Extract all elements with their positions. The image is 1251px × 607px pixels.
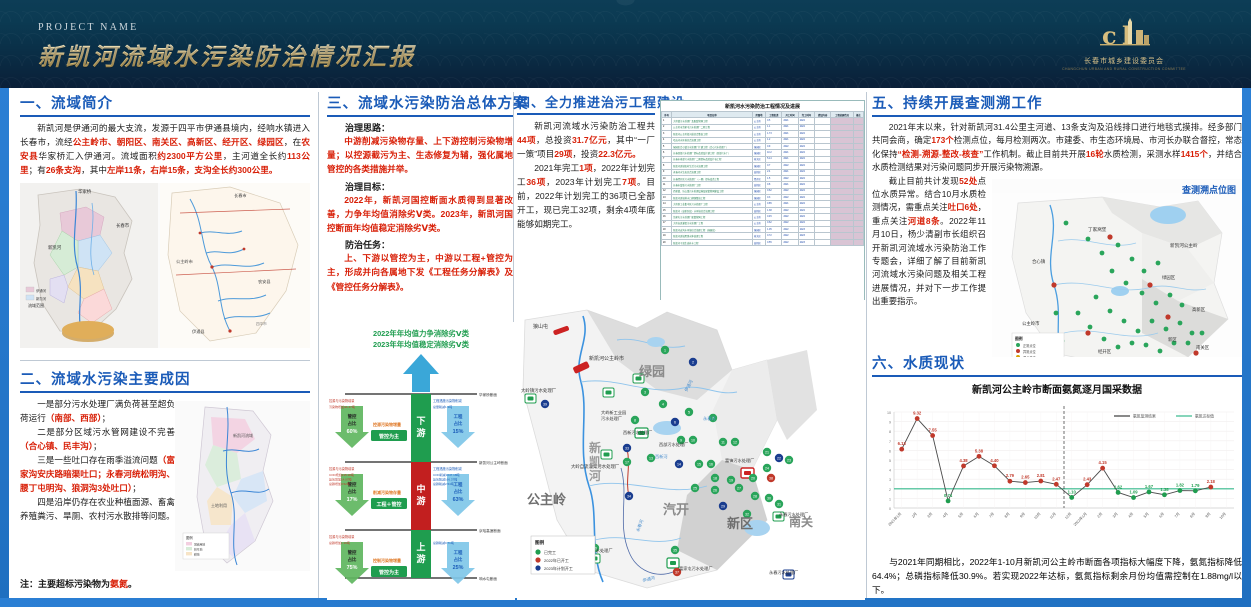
svg-text:公主岭市: 公主岭市: [176, 258, 193, 265]
monitoring-point-marker[interactable]: [1122, 318, 1127, 323]
map-province-panel: 华家桥 长春市 新凯河 流域范围 伊通河 新凯河: [20, 183, 158, 348]
logo-mark-icon: c l: [1059, 14, 1189, 54]
plain-text: ；: [93, 441, 102, 451]
svg-text:河: 河: [588, 468, 601, 483]
svg-text:西新河: 西新河: [655, 453, 668, 460]
chart-background: [872, 398, 1242, 548]
data-label: 2.43: [1083, 477, 1092, 482]
note-highlight: 氨氮: [110, 579, 128, 589]
investigation-map-tag: 查测溯点位图: [1182, 183, 1236, 196]
chart-title: 新凯河公主岭市断面氨氮逐月国采数据: [872, 381, 1242, 396]
map-river-detail-panel: 长春市 公主岭市 农安县 伊通县 四平市: [160, 183, 310, 348]
svg-text:公主岭市: 公主岭市: [1022, 320, 1040, 327]
right-note-title: 工程措施污染物削减: [433, 466, 462, 471]
section-4-rule: [517, 113, 655, 115]
svg-text:丁家窝堡: 丁家窝堡: [1088, 226, 1107, 233]
highlight-text: 7项: [622, 177, 637, 187]
svg-text:富锋污水处理厂: 富锋污水处理厂: [725, 457, 754, 464]
map-marker-label: 11: [721, 441, 725, 445]
section-pollution-causes: 二、流域水污染主要成因 新凯河流域 土地利用 图例 城镇: [20, 368, 310, 590]
data-label: 1.79: [1191, 483, 1200, 488]
monitoring-point-marker[interactable]: [1102, 336, 1107, 341]
section-5-rule: [872, 115, 1242, 117]
action-title: 控制污染物增量: [373, 557, 401, 563]
monitoring-point-marker[interactable]: [1186, 340, 1191, 345]
data-label: 2.47: [1052, 476, 1061, 481]
data-label: 4.40: [990, 458, 999, 463]
map-marker-label: 30: [767, 497, 771, 501]
header-title-block: PROJECT NAME 新凯河流域水污染防治情况汇报: [38, 22, 416, 72]
svg-text:新区: 新区: [1168, 336, 1177, 343]
projects-table: 序号项目名称所属地工程投资开工时间完工时间建设内容工程进展情况备注 1大岭镇污水…: [661, 111, 864, 246]
projects-table-title: 新凯河水污染防治工程情况及进展: [661, 101, 864, 111]
upward-arrow-icon: [403, 354, 439, 392]
right-note-value: COD削减1047.18吨: [433, 472, 460, 477]
section-4-paragraph-1: 新凯河流域水污染防治工程共44项，总投资31.7亿元，其中“一厂一策”项目29项…: [517, 119, 655, 161]
engineering-share-value: 25%: [453, 565, 464, 571]
section-investigation: 五、持续开展查测溯工作 2021年末以来，针对新凯河31.4公里主河道、13条支…: [872, 92, 1242, 361]
svg-text:新凯河: 新凯河: [48, 244, 62, 251]
plain-text: 新凯河流域水污染防治工程共: [534, 121, 655, 131]
projects-table-body: 1大岭镇污水处理厂及配套管网工程公主岭0.5202120222公主岭市范家屯污水…: [662, 118, 864, 246]
data-point[interactable]: [961, 464, 966, 469]
svg-text:长春市: 长春市: [116, 222, 130, 229]
plain-text: 与2021年同期相比，2022年1-10月新凯河公主岭市断面各项指标大幅度下降，…: [872, 557, 1242, 595]
engineering-share-label: 工程: [454, 549, 463, 556]
zone-label: 游: [416, 495, 425, 506]
data-point[interactable]: [1054, 482, 1059, 487]
data-label: 1.62: [1114, 484, 1123, 489]
svg-text:新区: 新区: [727, 516, 753, 531]
monitoring-point-marker[interactable]: [1180, 302, 1185, 307]
y-axis-tick: 4: [889, 469, 891, 473]
map-marker-label: 34: [627, 495, 631, 499]
data-point[interactable]: [1069, 495, 1074, 500]
map-marker-label: 10: [691, 439, 695, 443]
data-point[interactable]: [915, 416, 920, 421]
svg-text:四平市: 四平市: [256, 321, 267, 326]
zone-label: 下: [416, 416, 425, 426]
map-marker-label: 21: [765, 451, 769, 455]
plain-text: ，主河道全长约: [223, 151, 287, 161]
engineering-share-arrow-icon: [441, 406, 475, 448]
divider-3: [866, 92, 867, 598]
engineering-share-value: 63%: [453, 497, 464, 503]
svg-text:新凯河公主岭市: 新凯河公主岭市: [589, 355, 624, 362]
section-water-quality: 六、水质现状 新凯河公主岭市断面氨氮逐月国采数据 0123456789106.1…: [872, 352, 1242, 597]
action-box-label: 管控为主: [379, 569, 399, 576]
highlight-text: 河道8条: [908, 216, 940, 226]
data-point[interactable]: [1208, 485, 1213, 490]
data-label: 2.18: [1207, 479, 1216, 484]
highlight-text: 173个: [931, 135, 954, 145]
action-box-label: 管控为主: [379, 433, 399, 440]
map-marker-label: 26: [713, 489, 717, 493]
highlight-text: 31.7亿元: [572, 135, 607, 145]
section-2-title: 二、流域水污染主要成因: [20, 368, 310, 389]
projects-location-map: 1234567891011121314151617181920212223242…: [517, 300, 865, 600]
map-marker-label: 24: [765, 467, 769, 471]
svg-text:林草地: 林草地: [194, 547, 203, 551]
map-marker-label: 19: [729, 479, 733, 483]
monitoring-point-marker[interactable]: [1116, 242, 1121, 247]
svg-text:流域范围: 流域范围: [28, 302, 44, 308]
abnormal-point-marker[interactable]: [1165, 314, 1170, 319]
monitoring-point-marker[interactable]: [1088, 324, 1093, 329]
goal-line-2: 2023年年均值稳定消除劣Ⅴ类: [373, 340, 470, 349]
action-box-label: 工程＋管控: [376, 501, 401, 508]
legend-label: 氨氮监测结果: [1133, 414, 1156, 419]
logo-subtext: CHANGCHUN URBAN AND RURAL CONSTRUCTION C…: [1059, 67, 1189, 71]
svg-text:永春污水处理厂: 永春污水处理厂: [779, 511, 808, 518]
plain-text: 三是一些吐口存在雨季溢流问题: [37, 455, 158, 465]
highlight-text: 1项: [579, 163, 592, 173]
control-share-value: 75%: [347, 565, 358, 571]
abnormal-point-marker[interactable]: [1051, 282, 1056, 287]
data-point[interactable]: [899, 447, 904, 452]
monitoring-point-marker[interactable]: [1130, 340, 1135, 345]
map-marker-label: 38: [769, 477, 773, 481]
left-note-value: 氨氮增加14.07吨: [329, 476, 352, 481]
monitoring-point-marker[interactable]: [1130, 256, 1135, 261]
plain-text: ；: [132, 483, 141, 493]
monitoring-point-marker[interactable]: [1100, 250, 1105, 255]
highlight-text: 16轮: [1086, 149, 1104, 159]
highlight-text: 吐口6处: [948, 202, 978, 212]
monitoring-point-marker[interactable]: [1168, 292, 1173, 297]
note-suffix: 。: [128, 579, 137, 589]
landuse-map: 新凯河流域 土地利用 图例 城镇用地 林草地 耕地: [175, 401, 310, 571]
svg-text:合心镇: 合心镇: [1032, 258, 1046, 265]
svg-text:伊通河: 伊通河: [36, 288, 47, 293]
map-marker-label: 12: [733, 441, 737, 445]
right-note-title: 工程措施污染物削减: [433, 398, 462, 403]
data-point[interactable]: [946, 498, 951, 503]
monitoring-point-marker[interactable]: [1140, 290, 1145, 295]
control-share-arrow-icon: [335, 406, 369, 448]
left-note-title: 控源与污染物增量: [329, 398, 355, 403]
data-point[interactable]: [1116, 490, 1121, 495]
table-cell: 2022: [782, 239, 798, 245]
map-marker-label: 6: [674, 421, 676, 425]
map-marker-label: 22: [777, 457, 781, 461]
plain-text: 华家桥汇入伊通河。流域面积: [38, 151, 157, 161]
engineering-share-label: 占比: [454, 420, 463, 427]
svg-text:土地利用: 土地利用: [211, 502, 227, 508]
watershed-overview-map: 华家桥 长春市 新凯河 流域范围 伊通河 新凯河: [20, 183, 310, 348]
engineering-share-label: 工程: [454, 481, 463, 488]
data-label: 1.09: [1129, 490, 1138, 495]
data-label: 1.67: [1145, 484, 1154, 489]
project-name-label: PROJECT NAME: [38, 22, 416, 33]
map-marker-label: 16: [709, 463, 713, 467]
svg-text:大岭新工业园: 大岭新工业园: [601, 409, 626, 416]
data-label: 7.55: [929, 428, 938, 433]
section-6-rule: [872, 375, 1242, 377]
page-title: 新凯河流域水污染防治情况汇报: [38, 37, 416, 72]
svg-text:正常点位: 正常点位: [1023, 342, 1037, 347]
data-label: 4.38: [959, 458, 968, 463]
axis-label: 华家桥断面: [479, 392, 497, 397]
monitoring-point-marker[interactable]: [1154, 300, 1159, 305]
svg-text:已完工: 已完工: [544, 549, 556, 555]
data-point[interactable]: [1178, 488, 1183, 493]
left-note-value: COD增加215.18吨: [329, 472, 354, 477]
plain-text: 水质检测，采测水样: [1104, 149, 1181, 159]
map-legend-title: 图例: [535, 539, 545, 546]
note-prefix: 注：主要超标污染物为: [20, 579, 110, 589]
investigation-points-map: 查测溯点位图 丁家窝堡: [992, 179, 1242, 357]
map-marker-label: 29: [721, 505, 725, 509]
map-marker-label: 3: [644, 391, 646, 395]
control-share-label: 占比: [348, 556, 357, 563]
right-note-value: 氨氮削减166.37吨: [433, 476, 457, 481]
monitoring-point-marker[interactable]: [1054, 310, 1059, 315]
data-label: 1.10: [1068, 489, 1077, 494]
data-point[interactable]: [1147, 490, 1152, 495]
engineering-share-label: 占比: [454, 556, 463, 563]
logo-text: 长春市城乡建设委员会: [1059, 56, 1189, 66]
left-note-value: 总磷增加0.52吨: [329, 481, 350, 486]
highlight-text: 44项: [517, 135, 536, 145]
monitoring-point-marker[interactable]: [1086, 236, 1091, 241]
monitoring-point-marker[interactable]: [1094, 294, 1099, 299]
y-axis-tick: 10: [887, 411, 891, 415]
svg-text:2022年已开工: 2022年已开工: [544, 557, 569, 563]
y-axis-tick: 9: [889, 421, 891, 425]
map-marker-label: 14: [677, 463, 681, 467]
data-point[interactable]: [1038, 479, 1043, 484]
map-marker-label: 5: [688, 411, 690, 415]
svg-text:西部污水处理厂: 西部污水处理厂: [659, 441, 688, 448]
right-note-value: 总磷削减0.71吨: [433, 540, 454, 545]
data-point[interactable]: [1085, 482, 1090, 487]
data-point[interactable]: [992, 463, 997, 468]
svg-text:西新污水处理厂: 西新污水处理厂: [623, 429, 652, 436]
action-title: 削减污染物存量: [373, 489, 401, 495]
section-3-title: 三、流域水污染防治总体方案: [327, 92, 513, 113]
plain-text: ，其中: [81, 165, 107, 175]
control-share-label: 占比: [348, 420, 357, 427]
y-axis-tick: 2: [889, 488, 891, 492]
table-row[interactable]: 20新凯河干流生态补水工程高新区0.5520222023: [662, 239, 864, 245]
highlight-text: 左岸11条，右岸15条，支沟全长约300公里。: [107, 165, 277, 175]
highlight-text: 约2300平方公里: [157, 151, 222, 161]
svg-text:新凯河公主岭: 新凯河公主岭: [1170, 242, 1198, 249]
map-marker-label: 8: [634, 419, 636, 423]
section-1-title: 一、流域简介: [20, 92, 310, 113]
left-note-title: 控源与污染物增量: [329, 534, 355, 539]
svg-text:耕地: 耕地: [194, 552, 200, 556]
zone-label: 游: [416, 553, 425, 564]
data-point[interactable]: [1100, 466, 1105, 471]
section-1-rule: [20, 115, 310, 117]
map-marker-label: 27: [737, 487, 741, 491]
monitoring-point-marker[interactable]: [1190, 330, 1195, 335]
zone-label: 上: [416, 541, 425, 552]
data-label: 6.13: [898, 441, 907, 446]
svg-text:大岭镇污水处理厂: 大岭镇污水处理厂: [521, 387, 557, 394]
control-share-label: 占比: [348, 488, 357, 495]
monitoring-point-marker[interactable]: [1076, 310, 1081, 315]
control-share-value: 60%: [347, 429, 358, 435]
svg-text:新凯河流域: 新凯河流域: [233, 432, 253, 438]
monitoring-point-marker[interactable]: [1108, 308, 1113, 313]
highlight-text: 36项: [526, 177, 546, 187]
monitoring-point-marker[interactable]: [1136, 328, 1141, 333]
highlight-text: 26条支沟: [46, 165, 81, 175]
monitoring-point-marker[interactable]: [1116, 344, 1121, 349]
section-3-rule: [327, 115, 513, 117]
axis-label: 京哈高速断面: [479, 528, 501, 533]
abnormal-point-marker[interactable]: [1085, 330, 1090, 335]
left-note-value: 总磷增加1.19吨: [329, 540, 350, 545]
svg-text:长春市: 长春市: [234, 192, 247, 199]
map-marker-label: 25: [693, 487, 697, 491]
data-point[interactable]: [1023, 480, 1028, 485]
data-label: 9.32: [913, 411, 922, 416]
plain-text: 四是沿岸仍存在农业种植面源、畜禽养殖粪污、旱厕、农村污水散排等问题。: [20, 497, 175, 521]
legend-label: 氨氮达标值: [1195, 414, 1214, 419]
ammonia-nitrogen-line-chart: 0123456789106.139.327.550.744.385.384.40…: [872, 398, 1242, 553]
plain-text: ，2023年计划完工: [546, 177, 622, 187]
monitoring-point-marker[interactable]: [1110, 268, 1115, 273]
svg-text:永春污水处理厂: 永春污水处理厂: [769, 569, 798, 576]
data-point[interactable]: [977, 454, 982, 459]
goal-line-1: 2022年年均值力争消除劣Ⅴ类: [373, 329, 470, 338]
table-cell: 2023: [798, 239, 814, 245]
map-marker-label: 37: [675, 571, 679, 575]
data-point[interactable]: [1162, 492, 1167, 497]
monitoring-point-marker[interactable]: [1142, 268, 1147, 273]
right-note-value: 总磷削减2.54吨: [433, 481, 454, 486]
monitoring-point-marker[interactable]: [1200, 330, 1205, 335]
map-marker-label: 28: [753, 495, 757, 499]
section-5-title: 五、持续开展查测溯工作: [872, 92, 1242, 113]
plan-text-1: 中游削减污染物存量、上下游控制污染物增量；以控源截污为主、生态修复为辅，强化属地…: [327, 134, 513, 177]
data-label: 5.38: [975, 448, 984, 453]
table-cell: 0.55: [766, 239, 782, 245]
right-note-value: 总量削减1.3吨: [433, 404, 452, 409]
y-axis-tick: 8: [889, 430, 891, 434]
divider-1: [318, 92, 319, 598]
monitoring-point-marker[interactable]: [1150, 318, 1155, 323]
plain-text: 二是部分区域污水管网建设不完善: [37, 427, 175, 437]
poster-header: PROJECT NAME 新凯河流域水污染防治情况汇报 c l 长春市城乡建设委…: [0, 0, 1251, 88]
y-axis-tick: 3: [889, 478, 891, 482]
svg-text:公主岭: 公主岭: [527, 492, 566, 507]
data-point[interactable]: [1131, 495, 1136, 500]
control-share-value: 17%: [347, 497, 358, 503]
table-cell: [853, 239, 863, 245]
plain-text: 工作机制。截止目前共开展: [983, 149, 1086, 159]
svg-text:农安县: 农安县: [258, 278, 271, 285]
table-cell: [831, 239, 853, 245]
data-label: 4.15: [1099, 460, 1108, 465]
svg-text:污水处理厂: 污水处理厂: [601, 415, 622, 422]
svg-text:汽开: 汽开: [663, 502, 689, 517]
map-marker-label: 4: [662, 403, 664, 407]
data-label: 1.82: [1176, 483, 1185, 488]
axis-label: 新凯河公主岭断面: [479, 460, 508, 465]
map-marker-label: 1: [664, 349, 666, 353]
map-marker-label: 33: [625, 447, 629, 451]
svg-text:南关区: 南关区: [1196, 344, 1210, 351]
monitoring-point-marker[interactable]: [1156, 260, 1161, 265]
svg-text:图例: 图例: [1015, 336, 1023, 341]
divider-4: [20, 360, 310, 361]
data-label: 0.74: [944, 493, 953, 498]
monitoring-point-marker[interactable]: [1178, 320, 1183, 325]
right-accent-bar: [1242, 88, 1251, 598]
y-axis-tick: 5: [889, 459, 891, 463]
plan-text-2: 2022年，新凯河国控断面水质得到显著改善，力争年均值消除劣Ⅴ类。2023年，新…: [327, 193, 513, 236]
control-share-label: 管控: [348, 413, 357, 420]
data-point[interactable]: [1193, 488, 1198, 493]
left-note-title: 控源与污染物增量: [329, 466, 355, 471]
plan-text-3: 上、下游以管控为主，中游以工程+管控为主，形成并向各属地下发《工程任务分解表》及…: [327, 251, 513, 294]
map-marker-label: 18: [713, 477, 717, 481]
svg-text:城镇用地: 城镇用地: [194, 542, 205, 546]
data-point[interactable]: [930, 433, 935, 438]
map-marker-label: 15: [697, 463, 701, 467]
control-share-label: 管控: [348, 549, 357, 556]
highlight-text: 22.3亿元。: [598, 149, 641, 159]
svg-text:图例: 图例: [186, 535, 193, 540]
y-axis-tick: 6: [889, 449, 891, 453]
section-5-paragraph-1: 2021年末以来，针对新凯河31.4公里主河道、13条支沟及沿线排口进行地毯式摸…: [872, 121, 1242, 175]
zone-label: 游: [416, 427, 425, 438]
highlight-text: “检测-溯源-整改-核查”: [898, 149, 984, 159]
map-marker-label: 20: [751, 477, 755, 481]
section-2-note: 注：主要超标污染物为氨氮。: [20, 571, 310, 590]
section-6-footnote: 与2021年同期相比，2022年1-10月新凯河公主岭市断面各项指标大幅度下降，…: [872, 555, 1242, 597]
map-marker-label: 2: [692, 361, 694, 365]
monitoring-point-marker[interactable]: [1144, 342, 1149, 347]
svg-text:绿园: 绿园: [639, 364, 665, 379]
data-point[interactable]: [1008, 479, 1013, 484]
projects-table-panel: 新凯河水污染防治工程情况及进展 序号项目名称所属地工程投资开工时间完工时间建设内…: [660, 100, 865, 308]
section-4-title: 四、全力推进治污工程建设: [517, 92, 655, 111]
svg-text:富家屯污水处理厂: 富家屯污水处理厂: [679, 565, 713, 572]
plain-text: ，投资: [572, 149, 598, 159]
map-marker-label: 17: [625, 461, 629, 465]
poster-root: PROJECT NAME 新凯河流域水污染防治情况汇报 c l 长春市城乡建设委…: [0, 0, 1251, 607]
svg-text:伊通县: 伊通县: [192, 328, 205, 335]
monitoring-point-marker[interactable]: [1064, 220, 1069, 225]
section-1-paragraph: 新凯河是伊通河的最大支流，发源于四平市伊通县境内，经响水镇进入长春市，流经公主岭…: [20, 121, 310, 177]
svg-text:c: c: [1102, 21, 1117, 50]
highlight-text: 1415个: [1181, 149, 1208, 159]
plan-heading-1: 治理思路：: [327, 121, 513, 134]
svg-text:永春河: 永春河: [703, 415, 716, 422]
svg-text:2023年计划开工: 2023年计划开工: [544, 565, 573, 571]
section-watershed-intro: 一、流域简介 新凯河是伊通河的最大支流，发源于四平市伊通县境内，经响水镇进入长春…: [20, 92, 310, 348]
engineering-share-value: 15%: [453, 429, 464, 435]
svg-text:狼山屯: 狼山屯: [533, 323, 548, 330]
plain-text: 。2022年11月10日，杨少清副市长组织召开新凯河流域水污染防治工作专题会，详…: [872, 216, 986, 306]
monitoring-point-marker[interactable]: [1124, 280, 1129, 285]
plan-heading-3: 防治任务：: [327, 238, 513, 251]
table-cell: [815, 239, 831, 245]
y-axis-tick: 7: [889, 440, 891, 444]
river-control-flow-diagram: 2022年年均值力争消除劣Ⅴ类2023年年均值稳定消除劣Ⅴ类华家桥断面新凯河公主…: [327, 322, 515, 600]
map-marker-label: 35: [673, 549, 677, 553]
abnormal-point-marker[interactable]: [1147, 282, 1152, 287]
highlight-text: 52处: [959, 176, 978, 186]
monitoring-point-marker[interactable]: [1164, 326, 1169, 331]
abnormal-point-marker[interactable]: [1107, 234, 1112, 239]
